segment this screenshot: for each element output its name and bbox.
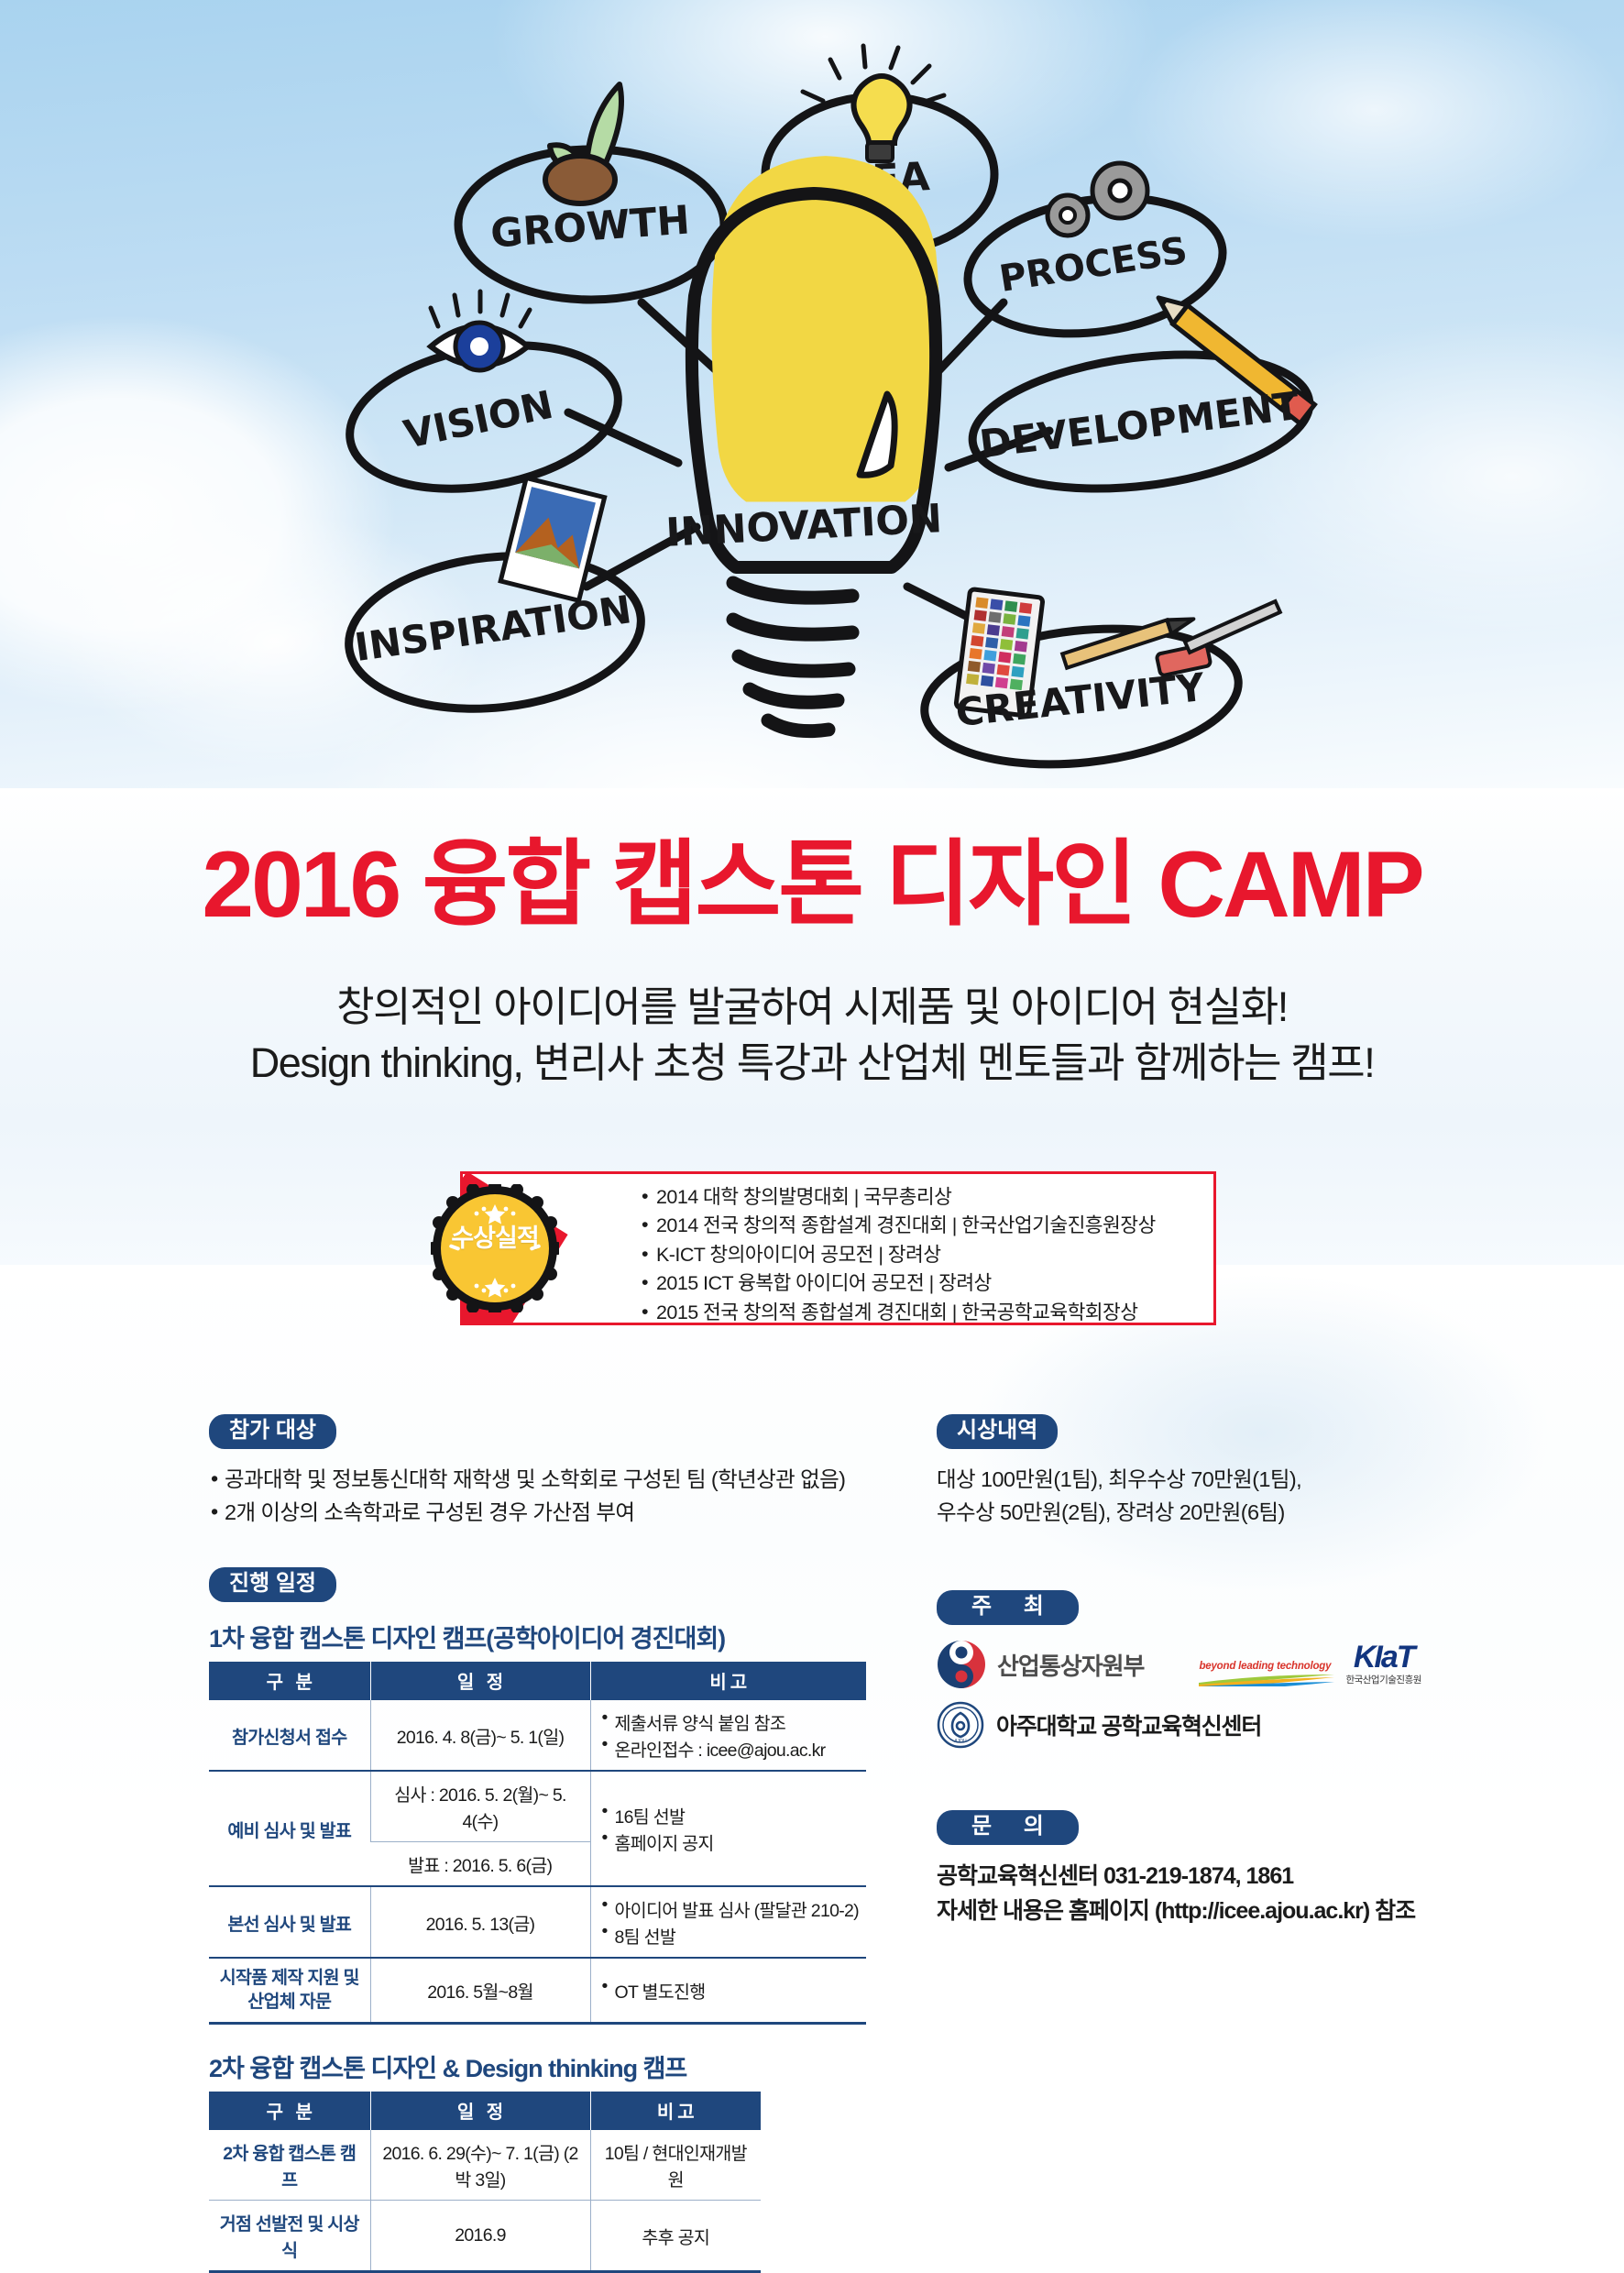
award-item: 2014 전국 창의적 종합설계 경진대회 | 한국산업기술진흥원장상 (642, 1212, 1178, 1240)
motie-logo: 산업통상자원부 (937, 1640, 1144, 1689)
kiat-swoosh-icon (1199, 1672, 1336, 1686)
note-line: 8팀 선발 (602, 1922, 859, 1949)
mindmap-node-vision: VISION (338, 291, 630, 509)
participants-heading: 참가 대상 (209, 1414, 336, 1449)
cell-category: 예비 심사 및 발표 (209, 1771, 370, 1886)
subtitle-line-1: 창의적인 아이디어를 발굴하여 시제품 및 아이디어 현실화! (0, 979, 1624, 1035)
cell-notes: 제출서류 양식 붙임 참조 온라인접수 : icee@ajou.ac.kr (590, 1700, 866, 1771)
column-header-date: 일 정 (370, 1662, 590, 1700)
mindmap-illustration: .ink{fill:none;stroke:#141416;stroke-lin… (0, 0, 1624, 825)
cell-date: 발표 : 2016. 5. 6(금) (370, 1842, 590, 1887)
host-logo-row-1: 산업통상자원부 beyond leading technology KIaT 한… (937, 1640, 1421, 1689)
cell-category-line: 산업체 자문 (216, 1991, 363, 2014)
inquiry-heading: 문 의 (937, 1810, 1079, 1845)
cell-date: 2016. 5. 13(금) (370, 1886, 590, 1958)
svg-text:VISION: VISION (400, 382, 556, 457)
kiat-wordmark: KIaT (1354, 1643, 1414, 1672)
cell-date: 2016. 4. 8(금)~ 5. 1(일) (370, 1700, 590, 1771)
page-title: 2016 융합 캡스톤 디자인 CAMP (0, 836, 1624, 934)
cell-notes: 아이디어 발표 심사 (팔달관 210-2) 8팀 선발 (590, 1886, 866, 1958)
schedule-table-1-block: 1차 융합 캡스톤 디자인 캠프(공학아이디어 경진대회) 구 분 일 정 비고… (209, 1619, 866, 2025)
award-item: 2014 대학 창의발명대회 | 국무총리상 (642, 1183, 1178, 1212)
mindmap-node-growth: GROWTH (458, 84, 724, 300)
cell-notes: 16팀 선발 홈페이지 공지 (590, 1771, 866, 1886)
cell-date: 2016. 6. 29(수)~ 7. 1(금) (2박 3일) (370, 2130, 590, 2201)
cell-notes: OT 별도진행 (590, 1958, 866, 2023)
table-row: 거점 선발전 및 시상식 2016.9 추후 공지 (209, 2201, 761, 2272)
mindmap-node-inspiration: INSPIRATION (341, 478, 648, 722)
column-header-notes: 비고 (590, 2092, 761, 2130)
cell-date: 2016.9 (370, 2201, 590, 2272)
column-header-category: 구 분 (209, 2092, 370, 2130)
column-header-notes: 비고 (590, 1662, 866, 1700)
schedule-table-2-block: 2차 융합 캡스톤 디자인 & Design thinking 캠프 구 분 일… (209, 2048, 866, 2273)
schedule-heading: 진행 일정 (209, 1567, 336, 1602)
inquiry-body: 공학교육혁신센터 031-219-1874, 1861 자세한 내용은 홈페이지… (937, 1860, 1415, 1928)
award-item: 2015 전국 창의적 종합설계 경진대회 | 한국공학교육학회장상 (642, 1299, 1178, 1327)
motie-logo-text: 산업통상자원부 (997, 1648, 1144, 1682)
ajou-logo-text: 아주대학교 공학교육혁신센터 (996, 1708, 1261, 1741)
inquiry-section: 문 의 공학교육혁신센터 031-219-1874, 1861 자세한 내용은 … (937, 1810, 1415, 1928)
host-section: 주 최 산업통상자원부 beyond leading technology (937, 1590, 1421, 1749)
cell-category: 참가신청서 접수 (209, 1700, 370, 1771)
table-row: 예비 심사 및 발표 심사 : 2016. 5. 2(월)~ 5. 4(수) 1… (209, 1771, 866, 1842)
cell-category: 본선 심사 및 발표 (209, 1886, 370, 1958)
participant-item: 2개 이상의 소속학과로 구성된 경우 가산점 부여 (209, 1497, 845, 1530)
table-header-row: 구 분 일 정 비고 (209, 1662, 866, 1700)
inquiry-line-1: 공학교육혁신센터 031-219-1874, 1861 (937, 1860, 1415, 1894)
participants-body: 공과대학 및 정보통신대학 재학생 및 소학회로 구성된 팀 (학년상관 없음)… (209, 1464, 845, 1529)
award-item: K-ICT 창의아이디어 공모전 | 장려상 (642, 1241, 1178, 1269)
prizes-heading: 시상내역 (937, 1414, 1058, 1449)
korea-government-emblem-icon (937, 1640, 986, 1689)
prizes-line-2: 우수상 50만원(2팀), 장려상 20만원(6팀) (937, 1497, 1301, 1530)
subtitle-line-2: Design thinking, 변리사 초청 특강과 산업체 멘토들과 함께하… (0, 1035, 1624, 1091)
cell-category: 거점 선발전 및 시상식 (209, 2201, 370, 2272)
note-line: 16팀 선발 (602, 1802, 859, 1828)
prizes-section: 시상내역 대상 100만원(1팀), 최우수상 70만원(1팀), 우수상 50… (937, 1414, 1301, 1530)
cell-note: 추후 공지 (590, 2201, 761, 2272)
kiat-tagline: beyond leading technology (1199, 1661, 1331, 1672)
note-line: 제출서류 양식 붙임 참조 (602, 1708, 859, 1735)
cell-date: 2016. 5월~8월 (370, 1958, 590, 2023)
cell-category: 2차 융합 캡스톤 캠프 (209, 2130, 370, 2201)
ajou-logo: AJOU 아주대학교 공학교육혁신센터 (937, 1701, 1421, 1749)
schedule-table-2-title: 2차 융합 캡스톤 디자인 & Design thinking 캠프 (209, 2048, 866, 2084)
table-row: 2차 융합 캡스톤 캠프 2016. 6. 29(수)~ 7. 1(금) (2박… (209, 2130, 761, 2201)
note-line: OT 별도진행 (602, 1977, 859, 2004)
column-header-date: 일 정 (370, 2092, 590, 2130)
table-row: 참가신청서 접수 2016. 4. 8(금)~ 5. 1(일) 제출서류 양식 … (209, 1700, 866, 1771)
cell-note: 10팀 / 현대인재개발원 (590, 2130, 761, 2201)
svg-text:AJOU: AJOU (954, 1739, 967, 1744)
note-line: 홈페이지 공지 (602, 1828, 859, 1855)
svg-text:INSPIRATION: INSPIRATION (352, 587, 634, 670)
schedule-table-2: 구 분 일 정 비고 2차 융합 캡스톤 캠프 2016. 6. 29(수)~ … (209, 2092, 761, 2273)
svg-text:PROCESS: PROCESS (996, 229, 1190, 301)
note-line: 아이디어 발표 심사 (팔달관 210-2) (602, 1895, 859, 1922)
ajou-university-emblem-icon: AJOU (937, 1701, 984, 1749)
awards-list: 2014 대학 창의발명대회 | 국무총리상2014 전국 창의적 종합설계 경… (642, 1183, 1178, 1327)
cell-category: 시작품 제작 지원 및 산업체 자문 (209, 1958, 370, 2023)
schedule-table-1-title: 1차 융합 캡스톤 디자인 캠프(공학아이디어 경진대회) (209, 1619, 866, 1654)
schedule-section: 진행 일정 1차 융합 캡스톤 디자인 캠프(공학아이디어 경진대회) 구 분 … (209, 1567, 866, 2273)
table-row: 본선 심사 및 발표 2016. 5. 13(금) 아이디어 발표 심사 (팔달… (209, 1886, 866, 1958)
award-item: 2015 ICT 융복합 아이디어 공모전 | 장려상 (642, 1269, 1178, 1298)
note-line: 온라인접수 : icee@ajou.ac.kr (602, 1735, 859, 1762)
awards-section: 수상실적 2014 대학 창의발명대회 | 국무총리상2014 전국 창의적 종… (431, 1171, 1219, 1327)
cell-category-line: 시작품 제작 지원 및 (216, 1967, 363, 1990)
host-heading: 주 최 (937, 1590, 1079, 1625)
mindmap-center-bulb: INNOVATION (664, 156, 943, 730)
column-header-category: 구 분 (209, 1662, 370, 1700)
kiat-subtext: 한국산업기술진흥원 (1345, 1673, 1421, 1686)
kiat-logo: beyond leading technology KIaT 한국산업기술진흥원 (1199, 1643, 1421, 1687)
svg-text:GROWTH: GROWTH (489, 198, 692, 258)
inquiry-line-2: 자세한 내용은 홈페이지 (http://icee.ajou.ac.kr) 참조 (937, 1894, 1415, 1929)
table-row: 시작품 제작 지원 및 산업체 자문 2016. 5월~8월 OT 별도진행 (209, 1958, 866, 2023)
schedule-table-1: 구 분 일 정 비고 참가신청서 접수 2016. 4. 8(금)~ 5. 1(… (209, 1662, 866, 2025)
prizes-body: 대상 100만원(1팀), 최우수상 70만원(1팀), 우수상 50만원(2팀… (937, 1464, 1301, 1529)
cell-date: 심사 : 2016. 5. 2(월)~ 5. 4(수) (370, 1771, 590, 1842)
prizes-line-1: 대상 100만원(1팀), 최우수상 70만원(1팀), (937, 1464, 1301, 1497)
mindmap-node-creativity: CREATIVITY (917, 589, 1279, 779)
participants-section: 참가 대상 공과대학 및 정보통신대학 재학생 및 소학회로 구성된 팀 (학년… (209, 1414, 845, 1530)
participant-item: 공과대학 및 정보통신대학 재학생 및 소학회로 구성된 팀 (학년상관 없음) (209, 1464, 845, 1497)
awards-seal-label: 수상실적 (431, 1171, 559, 1300)
page-subtitle: 창의적인 아이디어를 발굴하여 시제품 및 아이디어 현실화! Design t… (0, 979, 1624, 1091)
table-header-row: 구 분 일 정 비고 (209, 2092, 761, 2130)
